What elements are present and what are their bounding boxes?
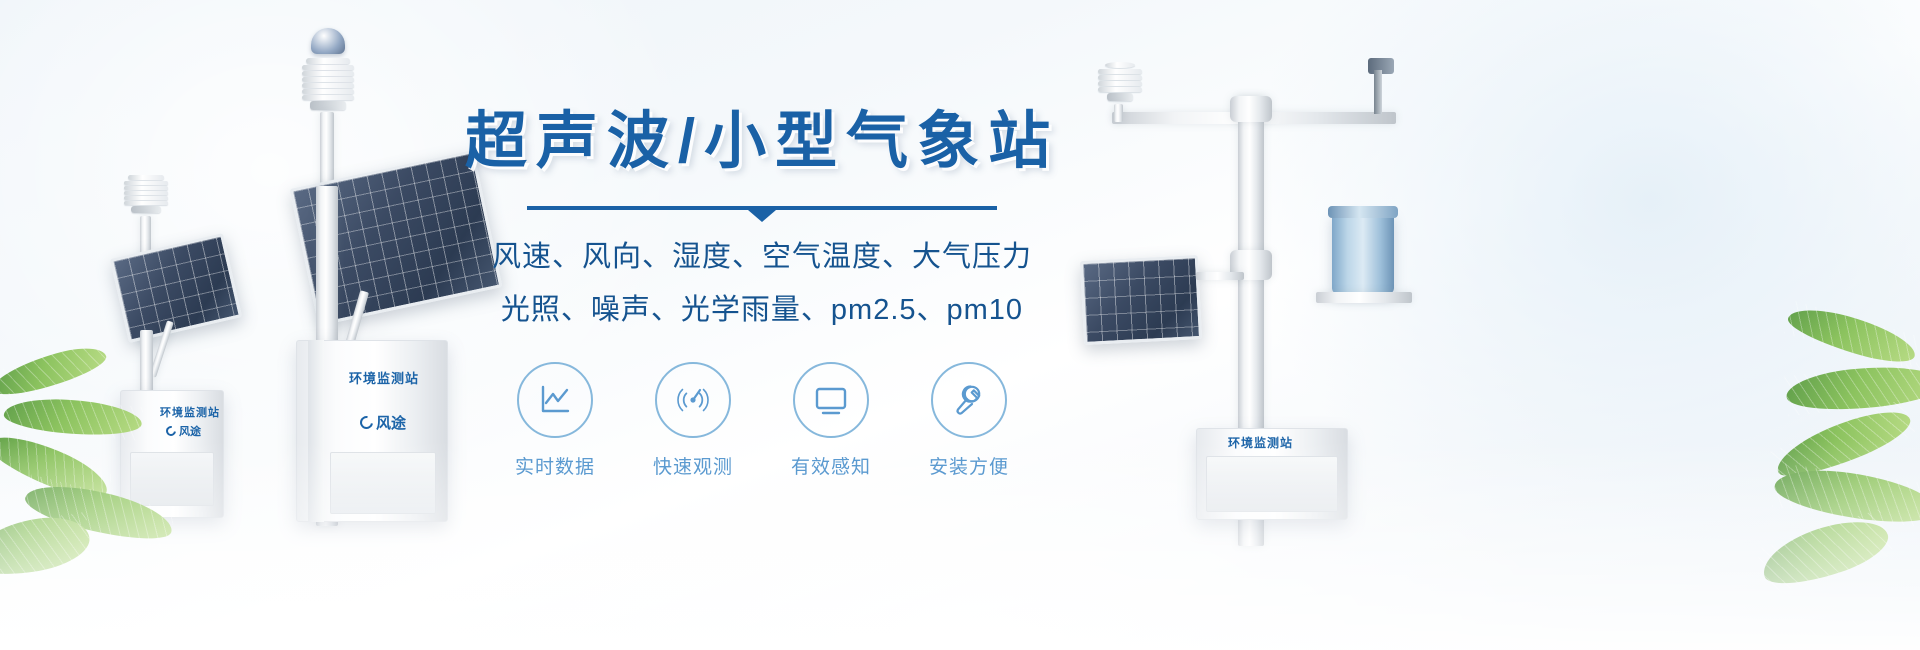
brand-mark-icon	[164, 424, 178, 438]
feature-realtime-data[interactable]: 实时数据	[509, 362, 601, 479]
feature-icon-wrapper	[931, 362, 1007, 438]
feature-icon-wrapper	[655, 362, 731, 438]
subtitle-line-1: 风速、风向、湿度、空气温度、大气压力	[452, 234, 1072, 281]
cabinet-label: 环境监测站	[160, 404, 220, 420]
feature-fast-observation[interactable]: 快速观测	[647, 362, 739, 479]
monitor-icon	[810, 380, 852, 420]
brand-name: 风途	[179, 423, 201, 439]
ultrasonic-sensor-icon	[1098, 62, 1142, 102]
feature-label: 安装方便	[923, 452, 1015, 479]
vane-stem	[1374, 70, 1382, 114]
feature-icon-wrapper	[793, 362, 869, 438]
wrench-icon	[949, 380, 989, 420]
line-chart-icon	[535, 380, 575, 420]
page-title: 超声波/小型气象站	[452, 104, 1072, 180]
rain-gauge-icon	[1332, 212, 1394, 294]
feature-label: 实时数据	[509, 452, 601, 479]
rain-gauge-rim	[1328, 206, 1398, 218]
subtitle-line-2: 光照、噪声、光学雨量、pm2.5、pm10	[452, 287, 1072, 334]
feature-icon-wrapper	[517, 362, 593, 438]
feature-effective-sensing[interactable]: 有效感知	[785, 362, 877, 479]
panel-arm	[1196, 272, 1244, 280]
gauge-shelf	[1316, 292, 1412, 303]
ultrasonic-sensor-icon	[302, 58, 354, 111]
feature-label: 有效感知	[785, 452, 877, 479]
ultrasonic-sensor-icon	[124, 175, 168, 214]
brand-mark-icon	[357, 413, 375, 431]
product-banner: 环境监测站 风途 环境监测站 风途	[0, 0, 1920, 650]
mast-collar-top	[1230, 96, 1272, 122]
feature-list: 实时数据 快速观测	[452, 362, 1072, 479]
sensor-stem	[1114, 104, 1123, 122]
radar-signal-icon	[673, 380, 713, 420]
feature-easy-installation[interactable]: 安装方便	[923, 362, 1015, 479]
brand-logo: 风途	[166, 423, 201, 439]
brand-logo: 风途	[360, 412, 406, 433]
title-divider	[527, 206, 997, 210]
rain-sensor-dome-icon	[311, 28, 345, 54]
feature-label: 快速观测	[647, 452, 739, 479]
solar-panel	[1080, 255, 1202, 345]
mast-upper	[320, 112, 334, 186]
cabinet-label: 环境监测站	[349, 368, 419, 387]
brand-name: 风途	[376, 412, 406, 433]
banner-content: 超声波/小型气象站 风速、风向、湿度、空气温度、大气压力 光照、噪声、光学雨量、…	[452, 104, 1072, 479]
